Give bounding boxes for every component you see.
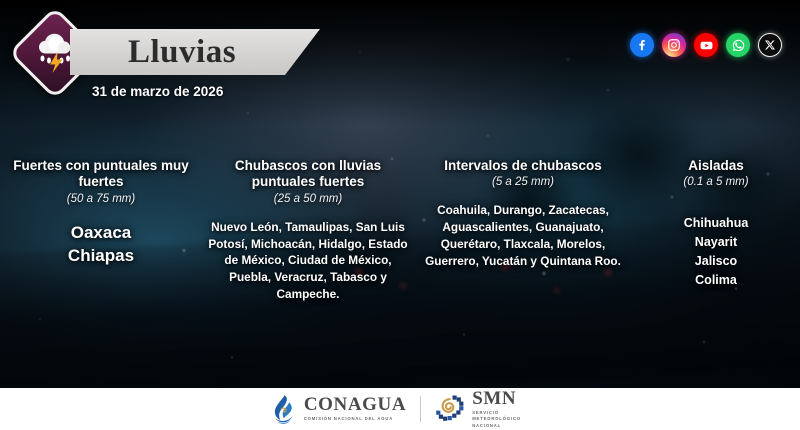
poster-footer: CONAGUA COMISIÓN NACIONAL DEL AGUA SMN <box>0 388 800 430</box>
column-heading: Fuertes con puntuales muy fuertes <box>6 158 196 191</box>
column-states: Nuevo León, Tamaulipas, San Luis Potosí,… <box>208 219 408 303</box>
facebook-icon[interactable] <box>630 33 654 57</box>
forecast-column-intervalos: Intervalos de chubascos (5 a 25 mm) Coah… <box>414 158 632 269</box>
youtube-icon[interactable] <box>694 33 718 57</box>
conagua-subtitle: COMISIÓN NACIONAL DEL AGUA <box>304 416 406 422</box>
column-range: (0.1 a 5 mm) <box>638 176 794 188</box>
smn-subtitle: SERVICIO METEOROLÓGICO NACIONAL <box>472 410 528 428</box>
conagua-water-emblem-icon <box>272 394 297 424</box>
whatsapp-icon[interactable] <box>726 33 750 57</box>
forecast-column-aisladas: Aisladas (0.1 a 5 mm) ChihuahuaNayaritJa… <box>632 158 800 289</box>
page-title: Lluvias <box>128 30 318 74</box>
smn-name: SMN <box>472 389 528 408</box>
column-states: ChihuahuaNayaritJaliscoColima <box>638 214 794 289</box>
column-range: (25 a 50 mm) <box>208 193 408 205</box>
column-states: OaxacaChiapas <box>6 221 196 268</box>
column-range: (50 a 75 mm) <box>6 193 196 205</box>
poster-header: Lluvias 31 de marzo de 2026 <box>0 0 800 115</box>
conagua-name: CONAGUA <box>304 395 406 414</box>
instagram-icon[interactable] <box>662 33 686 57</box>
footer-divider <box>420 396 421 422</box>
forecast-date: 31 de marzo de 2026 <box>92 84 223 99</box>
column-heading: Intervalos de chubascos <box>420 158 626 174</box>
column-heading: Aisladas <box>638 158 794 174</box>
column-states: Coahuila, Durango, Zacatecas, Aguascalie… <box>420 202 626 269</box>
x-twitter-icon[interactable] <box>758 33 782 57</box>
smn-logo: SMN SERVICIO METEOROLÓGICO NACIONAL <box>435 389 528 428</box>
forecast-column-chubascos-fuertes: Chubascos con lluvias puntuales fuertes … <box>202 158 414 303</box>
forecast-column-fuertes: Fuertes con puntuales muy fuertes (50 a … <box>0 158 202 268</box>
column-range: (5 a 25 mm) <box>420 176 626 188</box>
smn-spiral-emblem-icon <box>435 394 465 424</box>
conagua-logo: CONAGUA COMISIÓN NACIONAL DEL AGUA <box>272 394 406 424</box>
social-links <box>630 33 782 57</box>
column-heading: Chubascos con lluvias puntuales fuertes <box>208 158 408 191</box>
forecast-columns: Fuertes con puntuales muy fuertes (50 a … <box>0 158 800 308</box>
weather-infographic-poster: Lluvias 31 de marzo de 2026 <box>0 0 800 430</box>
